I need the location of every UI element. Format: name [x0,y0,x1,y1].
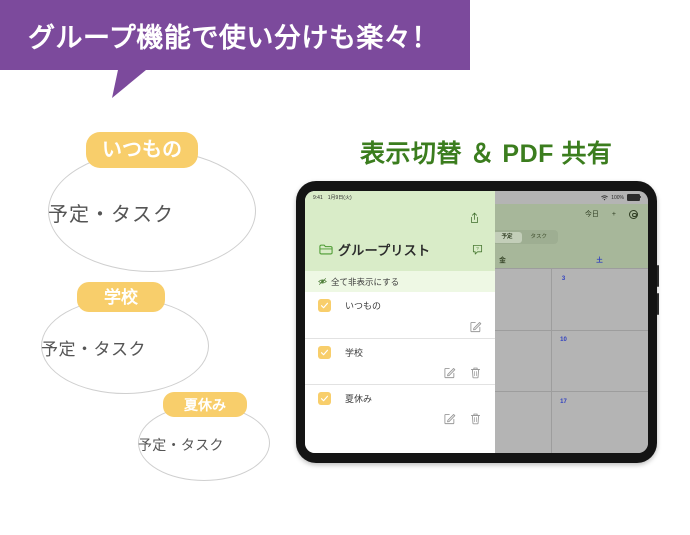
ellipse-badge-label: 学校 [77,282,165,312]
volume-down-button[interactable] [657,293,659,315]
tablet-screen: 年8月 今日 + を設定 予定 タスク [305,191,648,453]
check-icon [320,301,329,310]
tab-schedule[interactable]: 予定 [493,232,522,243]
tab-task[interactable]: タスク [522,232,557,243]
weekday-sat: 土 [551,254,648,264]
ellipse-badge-label: 夏休み [163,392,247,417]
hide-all-row[interactable]: 全て非表示にする [305,271,495,292]
tablet-device: 年8月 今日 + を設定 予定 タスク [296,181,657,463]
svg-text:?: ? [476,246,479,251]
wifi-icon [601,195,608,201]
plus-icon[interactable]: + [612,211,616,218]
view-segmented-control[interactable]: 予定 タスク [491,230,558,244]
calendar-day-number: 3 [558,273,569,284]
calendar-cell[interactable]: 10 [551,331,648,392]
checkbox-checked[interactable] [318,299,331,312]
check-icon [320,394,329,403]
hide-all-label: 全て非表示にする [331,276,399,288]
header-banner: グループ機能で使い分けも楽々！ [0,0,470,70]
volume-up-button[interactable] [657,265,659,287]
status-bar: 9:41 1月9日(火) 100% [305,191,648,204]
calendar-day-number: 10 [558,335,569,346]
list-item[interactable]: いつもの [305,292,495,338]
trash-icon[interactable] [469,412,482,425]
calendar-day-number: 17 [558,396,569,407]
group-list: いつもの [305,292,495,430]
poster-root: グループ機能で使い分けも楽々！ 予定・タスク いつもの 予定・タスク 学校 予定… [0,0,690,535]
list-item[interactable]: 夏休み [305,384,495,430]
battery-icon [627,194,640,201]
help-bubble-icon[interactable]: ? [472,244,483,255]
calendar-today-button[interactable]: 今日 [585,209,599,219]
share-icon[interactable] [470,212,479,224]
status-battery-percent: 100% [611,195,624,201]
edit-square-icon[interactable] [443,412,456,425]
edit-square-icon[interactable] [469,320,482,333]
checkbox-checked[interactable] [318,346,331,359]
header-banner-text: グループ機能で使い分けも楽々！ [28,16,439,55]
group-item-label: いつもの [345,299,381,312]
group-item-label: 学校 [345,346,363,359]
status-time: 9:41 [313,195,323,201]
trash-icon[interactable] [469,366,482,379]
calendar-cell[interactable]: 3 [551,269,648,330]
eye-slash-icon [318,277,327,286]
gear-icon[interactable] [629,210,638,219]
group-list-panel: グループリスト ? 全て非表示にする [305,191,495,453]
checkbox-checked[interactable] [318,392,331,405]
ellipse-badge-label: いつもの [86,132,198,168]
check-icon [320,348,329,357]
header-banner-tail [112,70,146,98]
calendar-cell[interactable]: 17 [551,392,648,453]
folder-icon [319,244,333,255]
group-list-title: グループリスト [338,240,430,259]
list-item[interactable]: 学校 [305,338,495,384]
status-date: 1月9日(火) [328,194,352,201]
group-item-label: 夏休み [345,392,372,405]
edit-square-icon[interactable] [443,366,456,379]
section-heading-pdf-share: 表示切替 ＆ PDF 共有 [360,134,612,170]
